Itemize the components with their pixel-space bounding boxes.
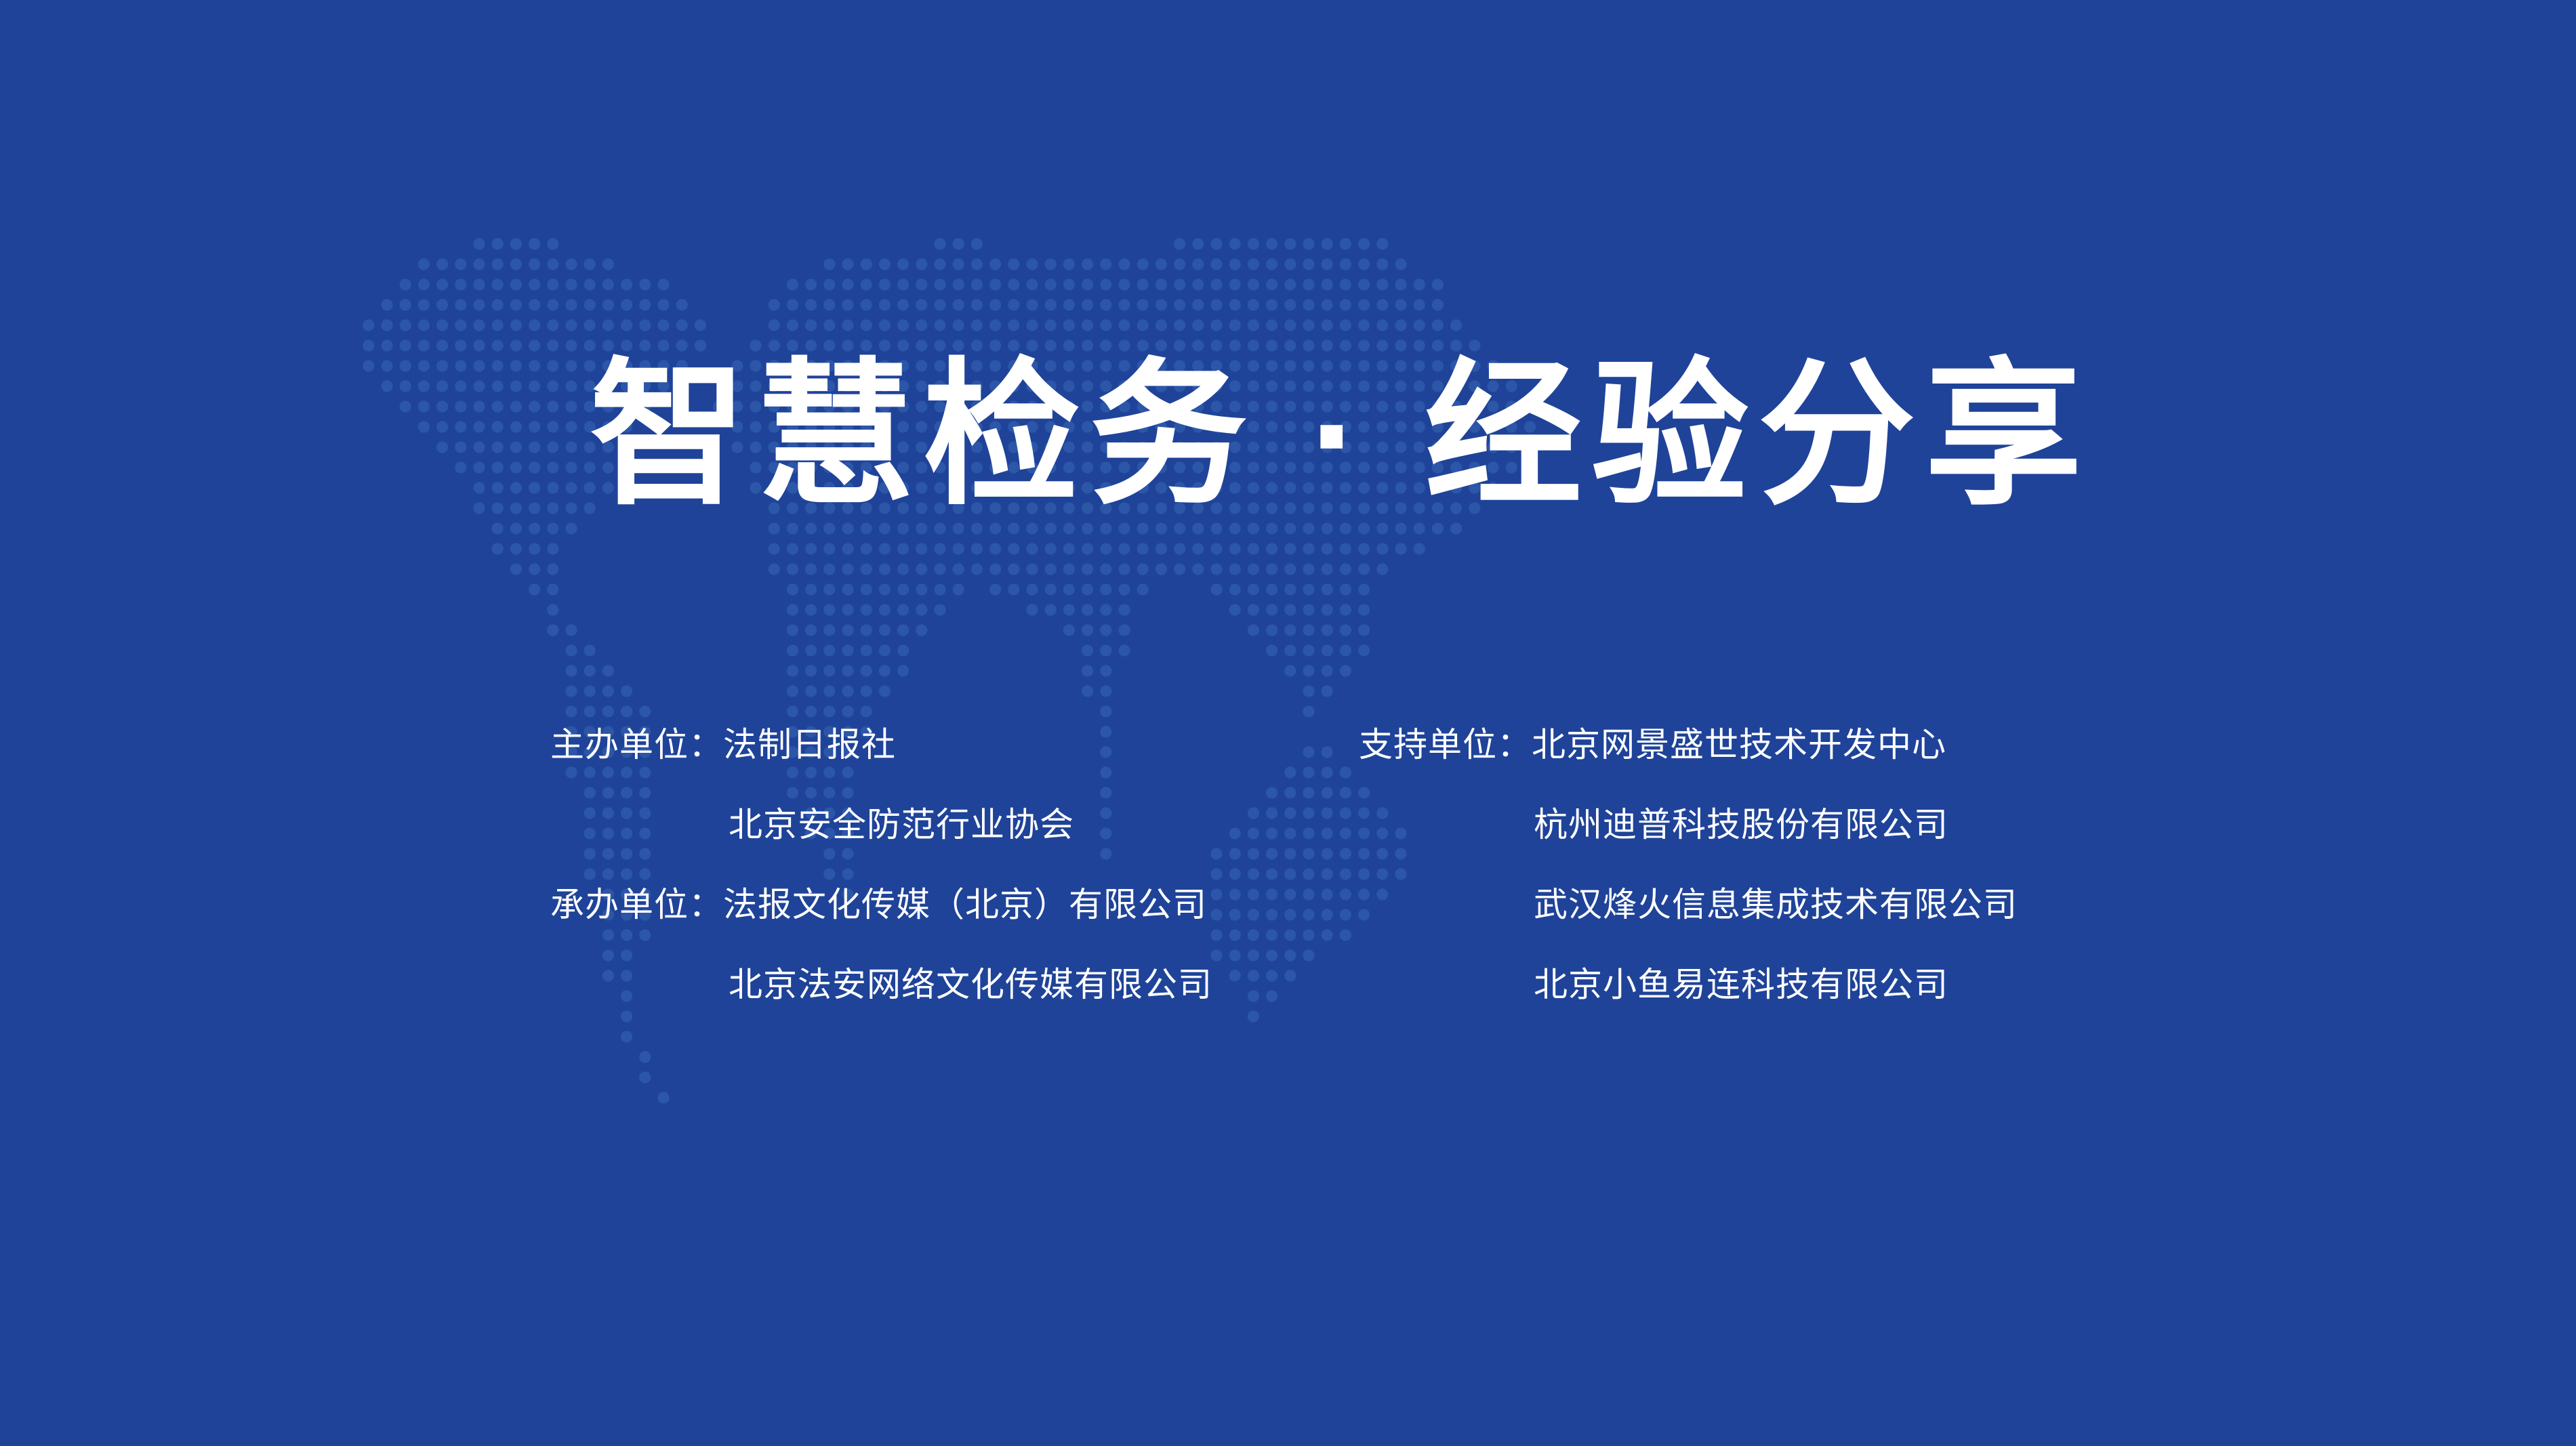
credit-right-value-3: 武汉烽火信息集成技术有限公司 xyxy=(1534,886,2018,924)
credit-right-label-1: 支持单位： xyxy=(1359,705,1532,785)
credits-block: 主办单位：法制日报社北京安全防范行业协会承办单位：法报文化传媒（北京）有限公司北… xyxy=(0,705,2576,1057)
credit-left-line-4: 北京法安网络文化传媒有限公司 xyxy=(550,945,1309,1025)
credit-left-line-3: 承办单位：法报文化传媒（北京）有限公司 xyxy=(550,865,1309,945)
credit-left-value-1: 法制日报社 xyxy=(723,726,896,764)
credit-left-line-2: 北京安全防范行业协会 xyxy=(550,785,1309,865)
credit-right-line-1: 支持单位：北京网景盛世技术开发中心 xyxy=(1359,705,2172,785)
credit-right-line-3: 武汉烽火信息集成技术有限公司 xyxy=(1359,865,2172,945)
credit-right-value-2: 杭州迪普科技股份有限公司 xyxy=(1534,806,1948,844)
credit-left-line-1: 主办单位：法制日报社 xyxy=(550,705,1309,785)
credit-left-value-2: 北京安全防范行业协会 xyxy=(729,806,1074,844)
credit-left-label-3: 承办单位： xyxy=(550,865,723,945)
credit-right-line-4: 北京小鱼易连科技有限公司 xyxy=(1359,945,2172,1025)
credit-left-value-3: 法报文化传媒（北京）有限公司 xyxy=(723,886,1207,924)
credits-left-column: 主办单位：法制日报社北京安全防范行业协会承办单位：法报文化传媒（北京）有限公司北… xyxy=(550,705,1309,1025)
credits-right-column: 支持单位：北京网景盛世技术开发中心杭州迪普科技股份有限公司武汉烽火信息集成技术有… xyxy=(1359,705,2172,1025)
credit-left-value-4: 北京法安网络文化传媒有限公司 xyxy=(729,966,1212,1004)
credit-right-value-4: 北京小鱼易连科技有限公司 xyxy=(1534,966,1948,1004)
title-slide: 智慧检务 · 经验分享 主办单位：法制日报社北京安全防范行业协会承办单位：法报文… xyxy=(0,0,2576,1446)
credit-left-label-1: 主办单位： xyxy=(550,705,723,785)
credit-right-value-1: 北京网景盛世技术开发中心 xyxy=(1532,726,1946,764)
page-title: 智慧检务 · 经验分享 xyxy=(590,352,1986,519)
credit-right-line-2: 杭州迪普科技股份有限公司 xyxy=(1359,785,2172,865)
title-block: 智慧检务 · 经验分享 xyxy=(590,352,1986,519)
